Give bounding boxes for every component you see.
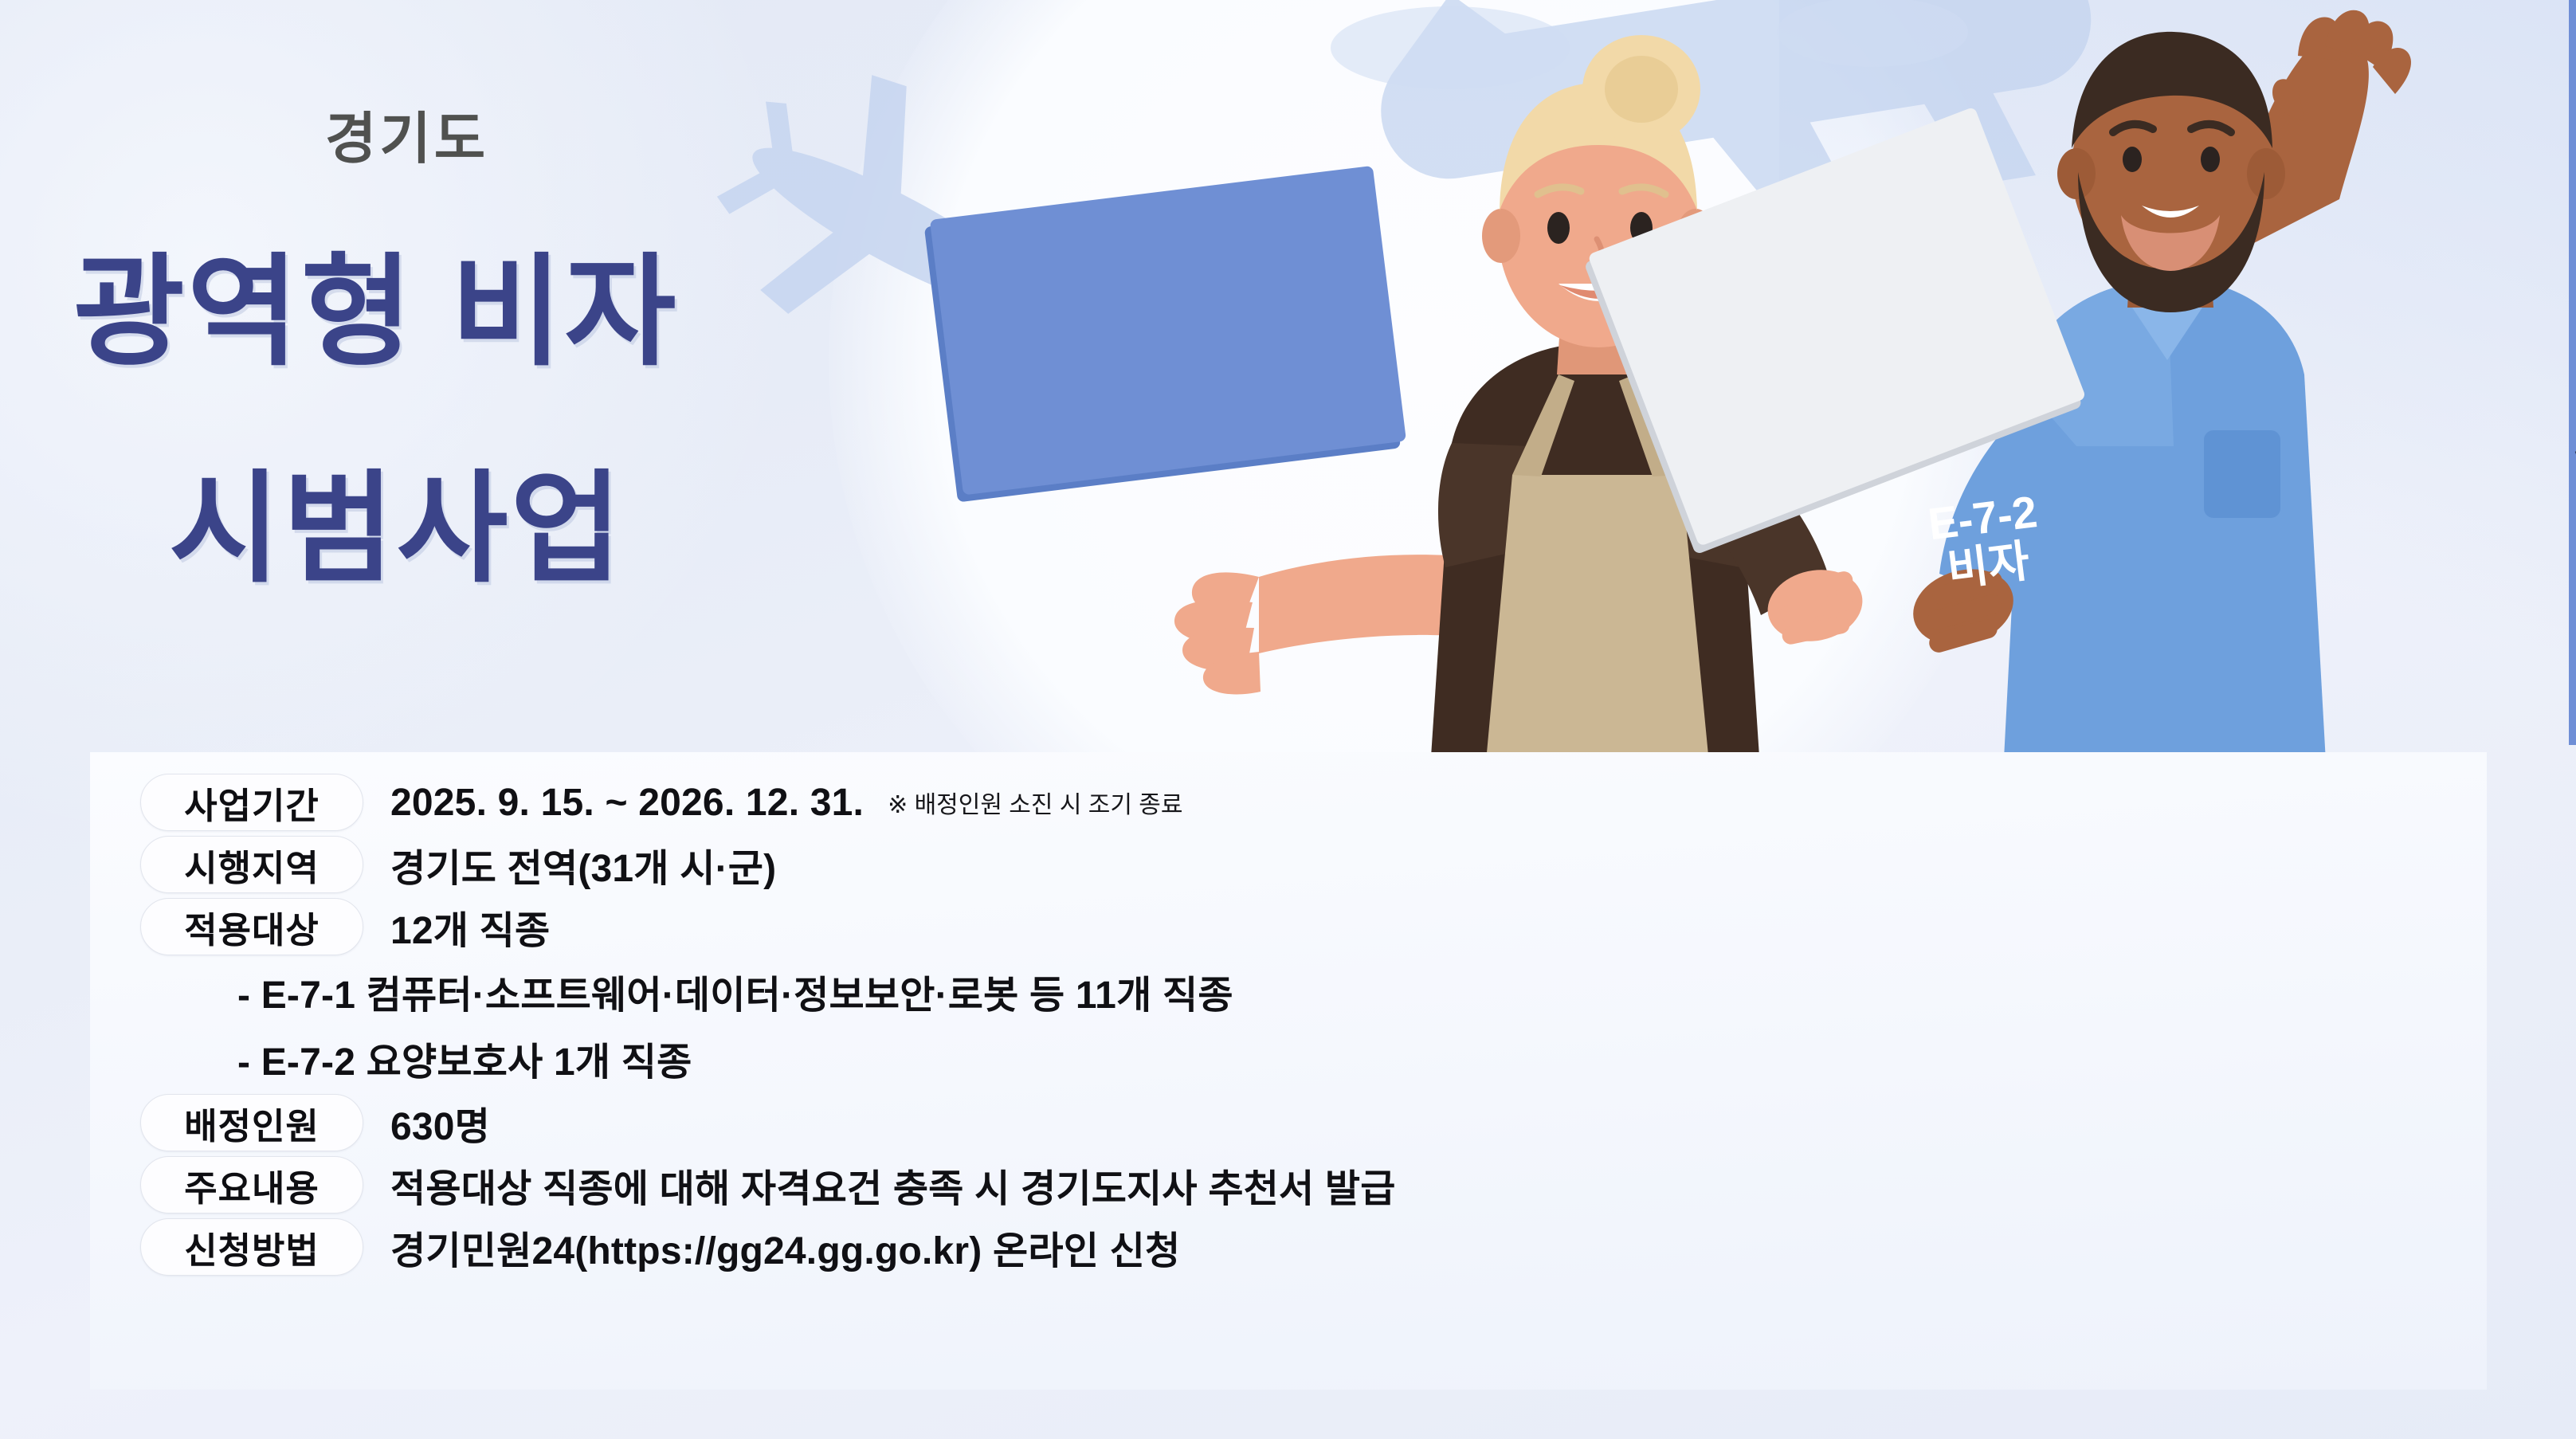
label-pill-detail: 주요내용 [140,1156,363,1214]
airplane-large-icon [1355,0,2199,343]
cloud-shapes [1331,0,1968,89]
value-detail: 적용대상 직종에 대해 자격요건 충족 시 경기도지사 추천서 발급 [390,1157,1396,1213]
poster-kicker: 경기도 [325,94,488,174]
man-character [1904,10,2411,805]
info-row-region: 시행지역 경기도 전역(31개 시·군) [140,833,2451,896]
label-pill-target: 적용대상 [140,898,363,955]
sign-e72-card [923,166,1407,503]
info-row-period: 사업기간 2025. 9. 15. ~ 2026. 12. 31. ※ 배정인원… [140,771,2451,833]
value-target: 12개 직종 [390,899,550,955]
info-row-target: 적용대상 12개 직종 [140,896,2451,958]
value-target-sub-e71: - E-7-1 컴퓨터·소프트웨어·데이터·정보보안·로봇 등 11개 직종 [237,963,1233,1019]
label-pill-quota: 배정인원 [140,1094,363,1151]
label-pill-region: 시행지역 [140,836,363,893]
woman-character [1174,35,1869,805]
info-row-apply: 신청방법 경기민원24(https://gg24.gg.go.kr) 온라인 신… [140,1216,2451,1278]
info-row-target-sub-e71: - E-7-1 컴퓨터·소프트웨어·데이터·정보보안·로봇 등 11개 직종 [140,958,2451,1025]
value-quota: 630명 [390,1095,490,1151]
value-period: 2025. 9. 15. ~ 2026. 12. 31. [390,781,864,825]
info-row-detail: 주요내용 적용대상 직종에 대해 자격요건 충족 시 경기도지사 추천서 발급 [140,1154,2451,1216]
poster-title-line1: 광역형 비자 [73,214,678,389]
background-right-wash [1779,0,2576,797]
sign-e71-label: E-7-1 비자 [2508,382,2576,558]
value-target-sub-e72: - E-7-2 요양보호사 1개 직종 [237,1030,692,1086]
value-apply: 경기민원24(https://gg24.gg.go.kr) 온라인 신청 [390,1219,1180,1275]
info-row-list: 사업기간 2025. 9. 15. ~ 2026. 12. 31. ※ 배정인원… [140,771,2451,1278]
right-edge-accent-line [2569,0,2576,745]
poster-title-line2: 시범사업 [169,430,624,606]
info-row-target-sub-e72: - E-7-2 요양보호사 1개 직종 [140,1025,2451,1092]
open-hand [1174,572,1261,694]
label-pill-period: 사업기간 [140,774,363,831]
label-pill-apply: 신청방법 [140,1218,363,1276]
value-region: 경기도 전역(31개 시·군) [390,837,776,892]
sign-e72-label: E-7-2 비자 [1861,480,2111,605]
airplane-small-icon [701,64,1084,382]
poster-canvas: 경기도 광역형 비자 시범사업 [0,0,2576,1439]
sign-e71-card [1582,107,2088,555]
info-row-quota: 배정인원 630명 [140,1092,2451,1154]
grip-hand [1761,561,1869,649]
info-panel: 사업기간 2025. 9. 15. ~ 2026. 12. 31. ※ 배정인원… [90,752,2487,1390]
note-period: ※ 배정인원 소진 시 조기 종료 [888,785,1182,820]
people-illustration: E-7-2 비자 E-7-1 비자 [845,0,2576,805]
